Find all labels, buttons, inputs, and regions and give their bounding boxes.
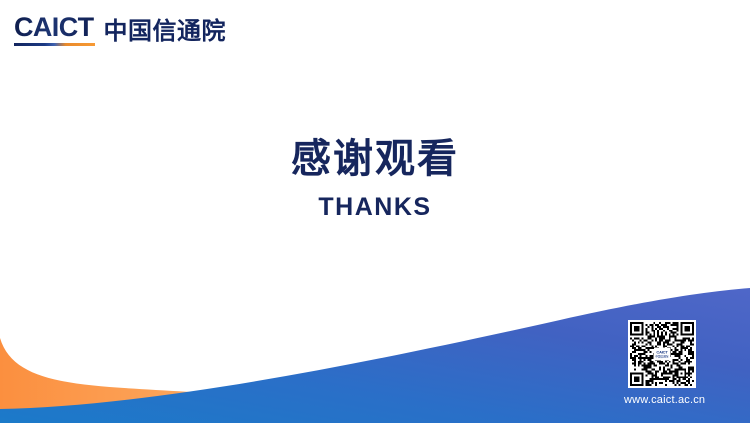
logo-latin-text: CAICT <box>14 14 95 41</box>
qr-footer-block: CAICT 中国信通院 www.caict.ac.cn <box>624 320 736 406</box>
logo-mark: CAICT <box>14 14 95 46</box>
qr-center-logo: CAICT 中国信通院 <box>654 348 670 361</box>
qr-center-chinese: 中国信通院 <box>656 355 669 358</box>
thanks-title-english: THANKS <box>0 192 750 222</box>
website-url[interactable]: www.caict.ac.cn <box>624 394 736 406</box>
qr-center-latin: CAICT <box>656 350 667 354</box>
caict-logo: CAICT 中国信通院 <box>14 14 226 46</box>
orange-wave <box>0 338 470 423</box>
logo-underline-rule <box>14 43 95 46</box>
thanks-block: 感谢观看 THANKS <box>0 136 750 222</box>
slide-canvas: CAICT 中国信通院 感谢观看 THANKS CAICT 中国信通院 www.… <box>0 0 750 423</box>
qr-code-icon[interactable]: CAICT 中国信通院 <box>628 320 696 388</box>
logo-chinese-text: 中国信通院 <box>104 20 227 46</box>
thanks-title-chinese: 感谢观看 <box>0 136 750 182</box>
